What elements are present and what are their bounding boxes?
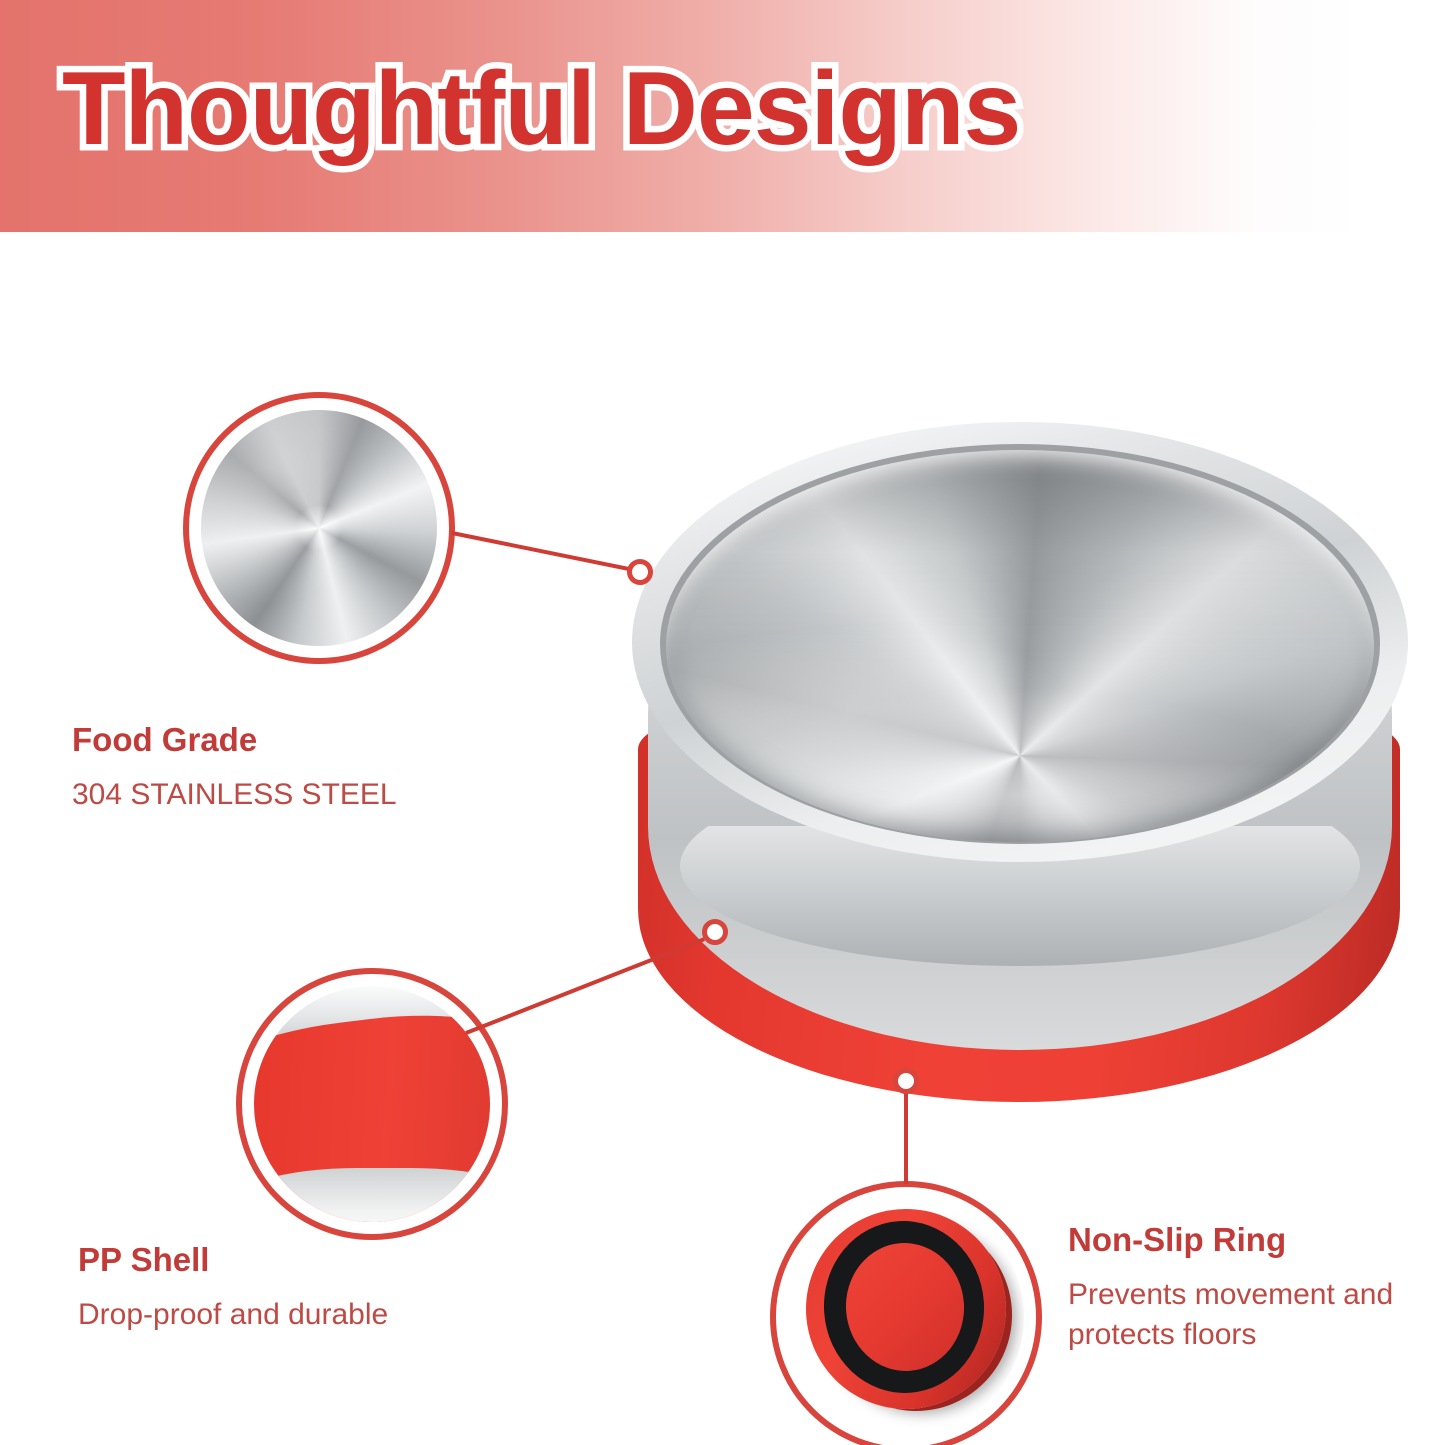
leader-line-food-grade — [452, 531, 643, 574]
leader-line-non-slip-ring — [904, 1092, 908, 1184]
callout-bubble-food-grade — [183, 392, 455, 664]
page-title: Thoughtful Designs — [62, 57, 1020, 161]
callout-description-pp-shell: Drop-proof and durable — [78, 1295, 388, 1335]
header-banner: Thoughtful Designs — [0, 0, 1445, 232]
bowl-interior-highlight — [666, 450, 1374, 842]
marker-dot-pp-shell — [702, 919, 728, 945]
callout-label-non-slip-ring: Non-Slip Ring Prevents movement and prot… — [1068, 1222, 1440, 1354]
callout-title-pp-shell: PP Shell — [78, 1242, 388, 1278]
callout-label-food-grade: Food Grade 304 STAINLESS STEEL — [72, 722, 397, 815]
callout-bubble-pp-shell — [236, 968, 508, 1240]
callout-description-non-slip-ring: Prevents movement and protects floors — [1068, 1275, 1440, 1354]
steel-specular-highlight — [201, 410, 437, 646]
infographic-page: Thoughtful Designs Food Grade 304 STAINL… — [0, 0, 1445, 1445]
marker-dot-non-slip-ring — [893, 1068, 919, 1094]
callout-bubble-non-slip-ring — [770, 1181, 1042, 1445]
callout-description-food-grade: 304 STAINLESS STEEL — [72, 775, 397, 815]
red-shell-closeup-icon — [254, 986, 490, 1222]
bowl-bottom-ring-icon — [788, 1199, 1024, 1435]
callout-title-non-slip-ring: Non-Slip Ring — [1068, 1222, 1440, 1258]
marker-dot-food-grade — [627, 559, 653, 585]
callout-label-pp-shell: PP Shell Drop-proof and durable — [78, 1242, 388, 1335]
callout-title-food-grade: Food Grade — [72, 722, 397, 758]
shell-base-shadow — [254, 1168, 490, 1222]
product-bowl-image — [620, 400, 1420, 1120]
